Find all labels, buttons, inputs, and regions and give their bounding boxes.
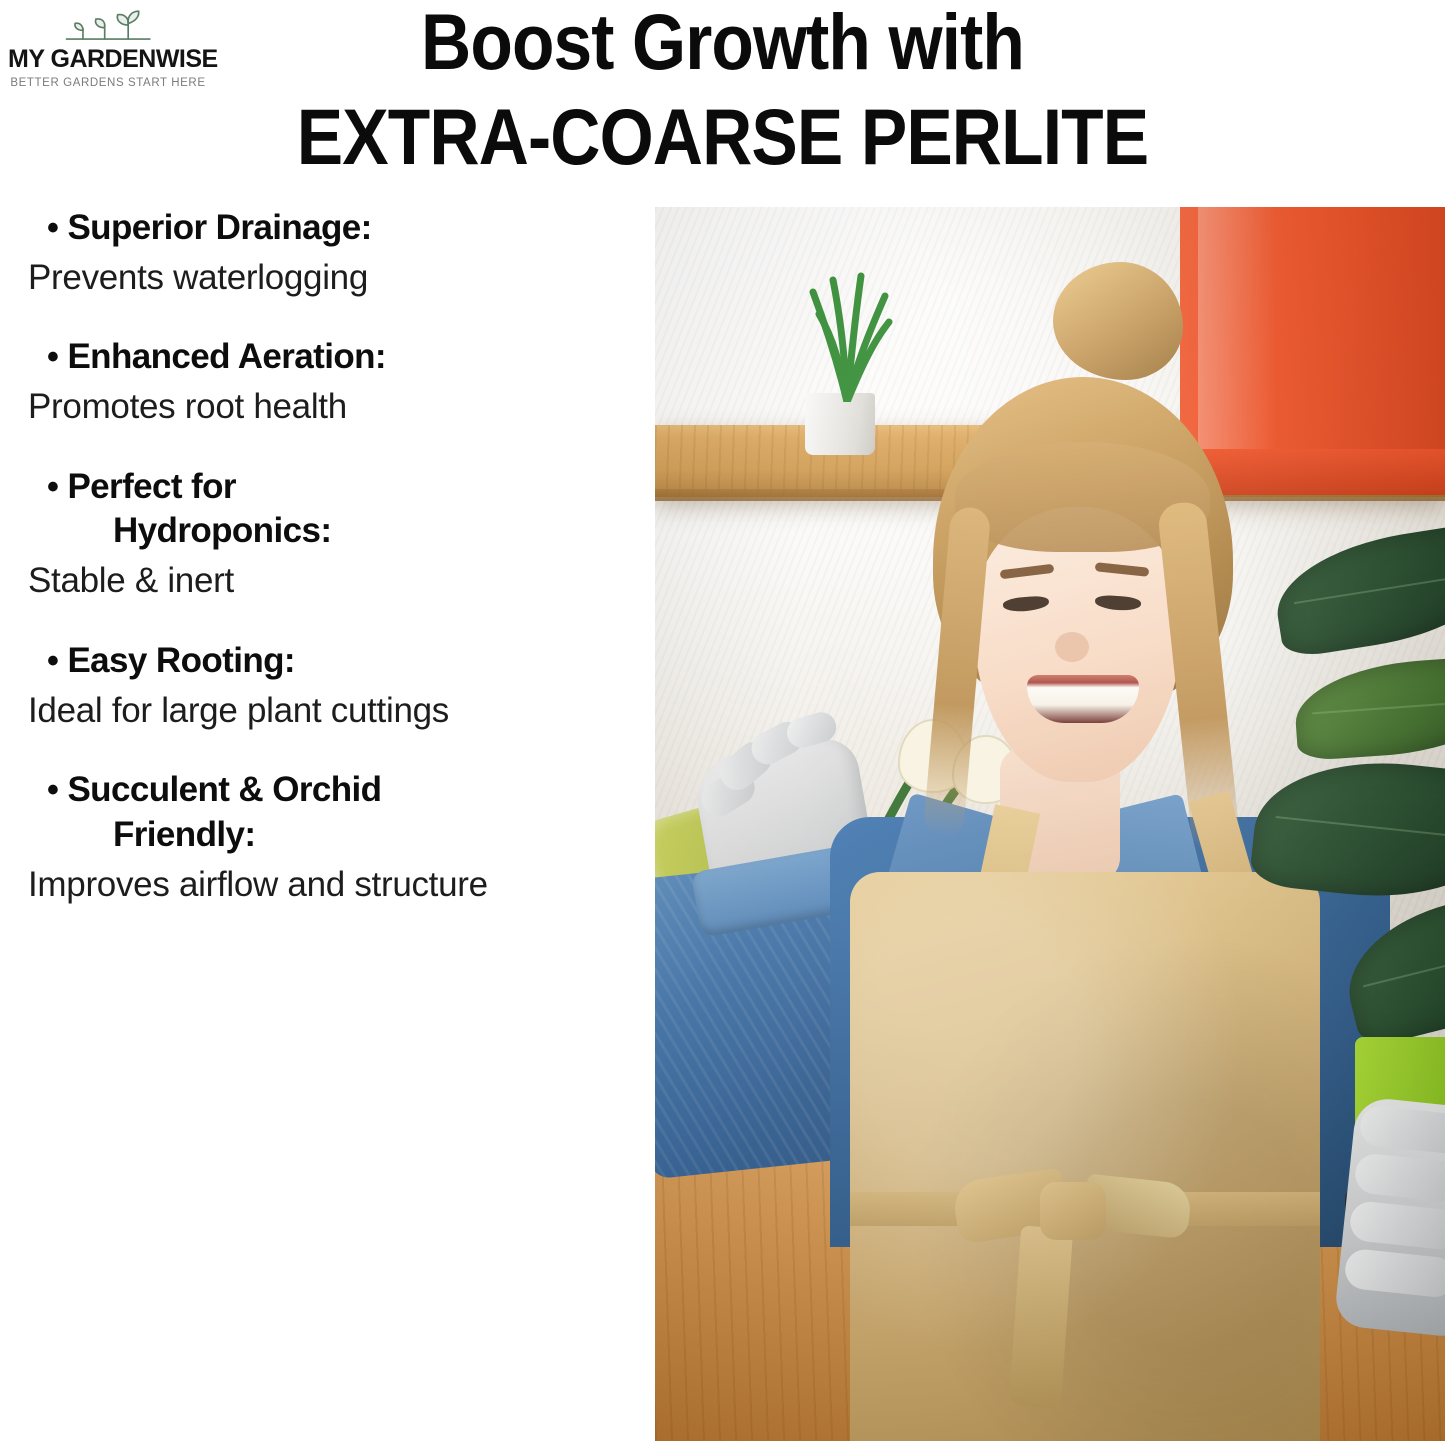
- benefit-title: • Superior Drainage:: [28, 206, 629, 251]
- benefit-description: Stable & inert: [28, 558, 629, 605]
- benefit-description: Prevents waterlogging: [28, 255, 629, 302]
- benefit-title-line-1: Superior Drainage:: [67, 208, 371, 247]
- page-title: Boost Growth with EXTRA-COARSE PERLITE: [210, 2, 1235, 177]
- bullet-icon: •: [47, 771, 58, 809]
- benefit-title-line-1: Easy Rooting:: [67, 641, 295, 680]
- benefit-title: • Succulent & Orchid Friendly:: [28, 768, 629, 858]
- benefit-title-line-2: Hydroponics:: [80, 509, 629, 554]
- bullet-icon: •: [47, 468, 58, 506]
- benefit-title: • Easy Rooting:: [28, 639, 629, 684]
- nose: [1055, 632, 1089, 662]
- bullet-icon: •: [47, 338, 58, 376]
- benefit-title: • Enhanced Aeration:: [28, 335, 629, 380]
- smiling-mouth: [1027, 675, 1139, 723]
- headline-line-2: EXTRA-COARSE PERLITE: [272, 97, 1174, 178]
- logo-name: MY GARDENWISE: [8, 47, 208, 72]
- tan-apron: [850, 872, 1320, 1441]
- orange-terracotta-pot: [1180, 207, 1445, 457]
- three-sprouts-icon: [56, 6, 160, 46]
- benefit-title-line-2: Friendly:: [80, 813, 629, 858]
- benefit-description: Promotes root health: [28, 384, 629, 431]
- product-lifestyle-photo: [655, 207, 1445, 1441]
- benefits-list: • Superior Drainage: Prevents waterloggi…: [0, 206, 645, 908]
- benefit-title: • Perfect for Hydroponics:: [28, 465, 629, 555]
- benefit-description: Ideal for large plant cuttings: [28, 688, 629, 735]
- headline-line-1: Boost Growth with: [272, 2, 1174, 83]
- logo-tagline: BETTER GARDENS START HERE: [8, 77, 208, 89]
- list-item: • Perfect for Hydroponics: Stable & iner…: [28, 465, 629, 605]
- grass-plant-icon: [775, 262, 920, 402]
- bullet-icon: •: [47, 642, 58, 680]
- benefit-title-line-1: Succulent & Orchid: [67, 770, 381, 809]
- white-plant-pot: [805, 393, 875, 455]
- benefit-title-line-1: Enhanced Aeration:: [67, 337, 386, 376]
- list-item: • Succulent & Orchid Friendly: Improves …: [28, 768, 629, 908]
- list-item: • Enhanced Aeration: Promotes root healt…: [28, 335, 629, 430]
- bullet-icon: •: [47, 209, 58, 247]
- list-item: • Superior Drainage: Prevents waterloggi…: [28, 206, 629, 301]
- brand-logo: MY GARDENWISE BETTER GARDENS START HERE: [8, 6, 208, 89]
- list-item: • Easy Rooting: Ideal for large plant cu…: [28, 639, 629, 734]
- benefit-title-line-1: Perfect for: [67, 467, 235, 506]
- benefit-description: Improves airflow and structure: [28, 862, 629, 909]
- apron-bow-knot: [1040, 1182, 1106, 1240]
